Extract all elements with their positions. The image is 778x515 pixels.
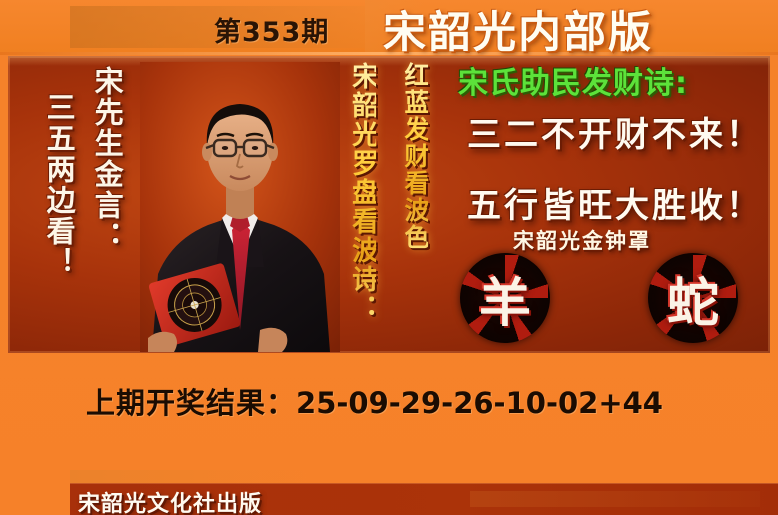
vertical-text-honglan-facai-kanbose: 红蓝发财看波色	[402, 62, 428, 251]
publisher-label: 宋韶光文化社出版	[78, 486, 262, 515]
vertical-text-songshaoguang-luopan: 宋韶光罗盘看波诗：	[348, 62, 376, 323]
last-draw-result-label: 上期开奖结果：	[86, 386, 296, 420]
portrait-photo	[140, 62, 340, 352]
medallion-goat-glyph: 羊	[460, 253, 550, 343]
footer-faint-block	[470, 491, 760, 507]
page-title: 宋韶光内部版	[383, 0, 653, 60]
last-draw-result: 上期开奖结果：25-09-29-26-10-02+44	[86, 380, 663, 422]
vertical-text-sanwu-liangbian-kan: 三五两边看！	[44, 92, 74, 278]
medallion-snake-glyph: 蛇	[648, 253, 738, 343]
footer-top-shade	[70, 470, 310, 483]
issue-number-label: 第353期	[214, 10, 329, 49]
jinzhongzhao-label: 宋韶光金钟罩	[513, 225, 651, 255]
medallion-goat: 羊	[460, 253, 550, 343]
poem-title: 宋氏助民发财诗:	[458, 58, 688, 102]
poem-line-2: 五行皆旺大胜收！	[467, 178, 763, 227]
poem-line-1: 三二不开财不来！	[467, 107, 763, 156]
vertical-text-song-xiansheng-jinyan: 宋先生金言：	[92, 66, 122, 252]
last-draw-result-numbers: 25-09-29-26-10-02+44	[296, 386, 663, 420]
poster-root: 第353期 宋韶光内部版 宋先生金言： 三五两边看！ 宋韶光罗盘看波诗： 红蓝发…	[0, 0, 778, 515]
portrait-photo-illustration	[140, 62, 340, 352]
medallion-snake: 蛇	[648, 253, 738, 343]
